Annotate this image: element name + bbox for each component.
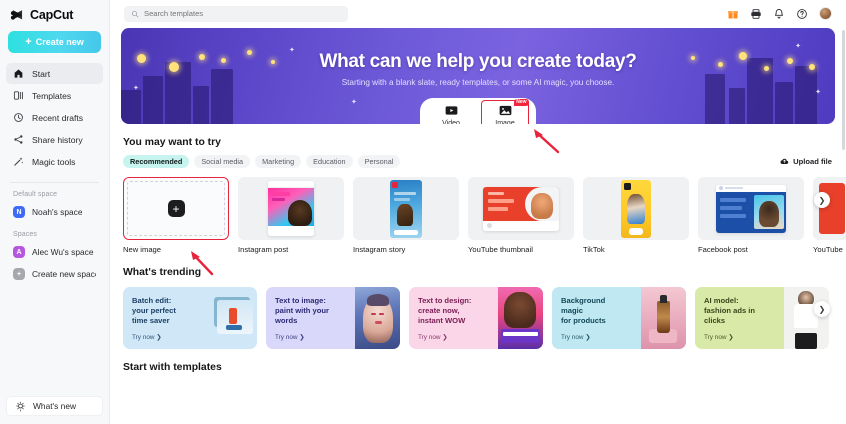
chip-recommended[interactable]: Recommended <box>123 155 189 168</box>
home-icon <box>13 68 24 79</box>
template-card-label: Instagram post <box>238 245 344 254</box>
tiktok-thumb <box>583 177 689 240</box>
trending-card-background-magic[interactable]: Background magic for products Try now ❯ <box>552 287 686 349</box>
cloud-upload-icon <box>780 157 789 166</box>
trending-next-button[interactable]: ❯ <box>814 301 830 317</box>
trending-card-title: Text to image: paint with your words <box>275 296 355 326</box>
template-card-label: Facebook post <box>698 245 804 254</box>
create-new-button[interactable]: + Create new <box>8 31 101 53</box>
youtube-thumbnail-thumb <box>468 177 574 240</box>
facebook-post-thumb <box>698 177 804 240</box>
plus-icon: + <box>25 37 31 48</box>
trending-card-cta[interactable]: Try now ❯ <box>704 333 784 341</box>
chip-education[interactable]: Education <box>306 155 352 168</box>
trending-cards-strip: Batch edit: your perfect time saver Try … <box>110 278 846 349</box>
text-to-image-thumb <box>355 287 400 349</box>
whats-new-label: What's new <box>33 401 76 411</box>
help-icon[interactable] <box>796 8 808 20</box>
banner-subtitle: Starting with a blank slate, ready templ… <box>121 78 835 87</box>
new-badge: New <box>514 99 529 106</box>
bell-icon[interactable] <box>773 8 785 20</box>
sidebar-item-templates[interactable]: Templates <box>6 85 103 106</box>
search-icon <box>131 10 139 18</box>
share-icon <box>13 134 24 145</box>
sidebar-item-label-recent-drafts: Recent drafts <box>32 113 83 123</box>
create-mode-image[interactable]: New Image <box>482 101 528 124</box>
sidebar-divider <box>10 182 99 183</box>
lightbulb-icon <box>15 401 26 412</box>
space-avatar-noah: N <box>13 206 25 218</box>
batch-edit-thumb <box>212 287 257 349</box>
main-content: ✦ ✦ ✦ ✦ ✦ What can we help you create to… <box>110 0 846 424</box>
sidebar-item-start[interactable]: Start <box>6 63 103 84</box>
sidebar-nav: Start Templates Recent drafts <box>0 63 109 173</box>
chip-marketing[interactable]: Marketing <box>255 155 301 168</box>
upload-file-button[interactable]: Upload file <box>780 157 832 166</box>
template-card-label: New image <box>123 245 229 254</box>
hero-banner: ✦ ✦ ✦ ✦ ✦ What can we help you create to… <box>121 28 835 124</box>
trending-card-cta[interactable]: Try now ❯ <box>275 333 355 341</box>
dashed-placeholder: + <box>127 181 225 236</box>
vertical-scrollbar[interactable] <box>842 30 845 150</box>
sidebar-item-recent-drafts[interactable]: Recent drafts <box>6 107 103 128</box>
template-card-label: YouTube thumbnail <box>468 245 574 254</box>
search-input[interactable] <box>144 9 341 18</box>
template-card-facebook-post[interactable]: Facebook post <box>698 177 804 254</box>
plus-avatar-icon: + <box>13 268 25 280</box>
printer-icon[interactable] <box>750 8 762 20</box>
video-icon <box>444 103 459 118</box>
templates-icon <box>13 90 24 101</box>
trending-card-title: Batch edit: your perfect time saver <box>132 296 212 326</box>
template-card-tiktok[interactable]: TikTok <box>583 177 689 254</box>
trending-card-ai-model[interactable]: AI model: fashion ads in clicks Try now … <box>695 287 829 349</box>
templates-section-heading: Start with templates <box>110 349 846 373</box>
template-card-new-image[interactable]: + New image <box>123 177 229 254</box>
clock-icon <box>13 112 24 123</box>
sidebar-item-label-start: Start <box>32 69 50 79</box>
text-to-design-thumb <box>498 287 543 349</box>
create-new-label: Create new <box>36 37 84 47</box>
template-next-button[interactable]: ❯ <box>814 192 830 208</box>
template-card-instagram-story[interactable]: Instagram story <box>353 177 459 254</box>
trending-card-title: Background magic for products <box>561 296 641 326</box>
whats-new-button[interactable]: What's new <box>6 396 103 416</box>
trending-card-text-to-image[interactable]: Text to image: paint with your words Try… <box>266 287 400 349</box>
trending-card-cta[interactable]: Try now ❯ <box>418 333 498 341</box>
create-new-space-button[interactable]: + Create new space <box>6 264 103 284</box>
instagram-post-thumb <box>238 177 344 240</box>
trending-card-batch-edit[interactable]: Batch edit: your perfect time saver Try … <box>123 287 257 349</box>
app-name: CapCut <box>30 8 73 22</box>
create-mode-video[interactable]: Video <box>428 101 474 124</box>
topbar <box>110 0 846 27</box>
space-item-noah[interactable]: N Noah's space <box>6 202 103 222</box>
trending-card-text-to-design[interactable]: Text to design: create now, instant WOW … <box>409 287 543 349</box>
app-logo[interactable]: CapCut <box>0 0 109 28</box>
sidebar-item-label-magic-tools: Magic tools <box>32 157 75 167</box>
category-chips: Recommended Social media Marketing Educa… <box>110 148 846 168</box>
sidebar-item-label-share-history: Share history <box>32 135 83 145</box>
magic-wand-icon <box>13 156 24 167</box>
banner-title: What can we help you create today? <box>121 51 835 73</box>
capcut-logo-icon <box>10 9 25 22</box>
space-label-alec: Alec Wu's space - w... <box>32 247 96 257</box>
template-cards-strip: + New image <box>110 168 846 254</box>
ai-model-thumb <box>784 287 829 349</box>
image-icon <box>498 103 513 118</box>
add-new-image-button[interactable]: + <box>168 200 185 217</box>
chip-social-media[interactable]: Social media <box>194 155 250 168</box>
sidebar: CapCut + Create new Start Templates <box>0 0 110 424</box>
try-section-heading: You may want to try <box>110 124 846 148</box>
trending-card-title: Text to design: create now, instant WOW <box>418 296 498 326</box>
template-card-instagram-post[interactable]: Instagram post <box>238 177 344 254</box>
spaces-caption: Spaces <box>0 231 109 238</box>
template-card-youtube-partial[interactable]: YouTube <box>813 177 846 254</box>
trending-card-cta[interactable]: Try now ❯ <box>132 333 212 341</box>
instagram-story-thumb <box>353 177 459 240</box>
space-avatar-alec: A <box>13 246 25 258</box>
background-magic-thumb <box>641 287 686 349</box>
create-new-space-label: Create new space <box>32 269 96 279</box>
create-mode-switch: Video New Image <box>420 98 536 124</box>
sidebar-item-magic-tools[interactable]: Magic tools <box>6 151 103 172</box>
template-card-label: Instagram story <box>353 245 459 254</box>
topbar-icons <box>727 7 838 20</box>
default-space-caption: Default space <box>0 191 109 198</box>
upload-file-label: Upload file <box>793 157 832 166</box>
search-box[interactable] <box>124 6 348 22</box>
youtube-partial-thumb <box>813 177 846 240</box>
space-label-noah: Noah's space <box>32 207 82 217</box>
trending-card-cta[interactable]: Try now ❯ <box>561 333 641 341</box>
user-avatar[interactable] <box>819 7 832 20</box>
sidebar-item-label-templates: Templates <box>32 91 71 101</box>
space-item-alec-wu[interactable]: A Alec Wu's space - w... <box>6 242 103 262</box>
new-image-thumb[interactable]: + <box>123 177 229 240</box>
trending-section-heading: What's trending <box>110 254 846 278</box>
template-card-youtube-thumbnail[interactable]: YouTube thumbnail <box>468 177 574 254</box>
template-card-label: TikTok <box>583 245 689 254</box>
template-card-label: YouTube <box>813 245 846 254</box>
capcut-app-window: CapCut + Create new Start Templates <box>0 0 846 424</box>
chip-personal[interactable]: Personal <box>358 155 401 168</box>
gift-icon[interactable] <box>727 8 739 20</box>
trending-card-title: AI model: fashion ads in clicks <box>704 296 784 326</box>
sidebar-item-share-history[interactable]: Share history <box>6 129 103 150</box>
